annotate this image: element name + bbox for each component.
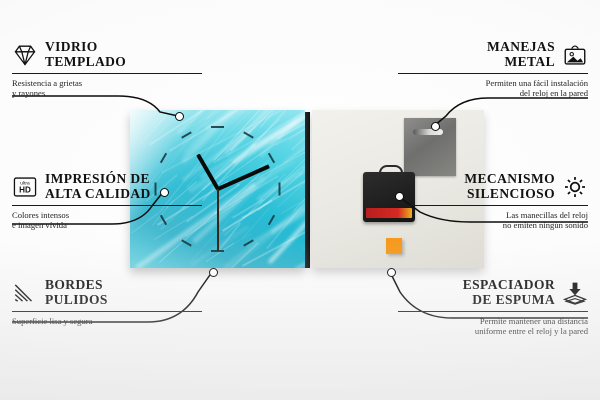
hour-tick: [268, 215, 275, 226]
feature-title: ESPACIADOR DE ESPUMA: [463, 278, 555, 307]
feature-desc: Permite mantener una distancia uniforme …: [398, 316, 588, 337]
feature-edges: BORDES PULIDOS Superficie lisa y segura: [12, 278, 202, 326]
feature-rule: [12, 205, 202, 206]
feature-title: VIDRIO TEMPLADO: [45, 40, 126, 69]
foam-spacer-arrow-icon: [562, 281, 588, 305]
diamond-icon: [12, 43, 38, 67]
glass-edge: [305, 112, 310, 268]
feature-rule: [12, 73, 202, 74]
feature-glass: VIDRIO TEMPLADO Resistencia a grietas y …: [12, 40, 202, 99]
feature-rule: [398, 311, 588, 312]
hour-tick: [279, 183, 281, 196]
feature-title: MECANISMO SILENCIOSO: [464, 172, 555, 201]
feature-desc: Resistencia a grietas y rayones: [12, 78, 202, 99]
feature-print: ultra HD IMPRESIÓN DE ALTA CALIDAD Color…: [12, 172, 202, 231]
feature-rule: [398, 73, 588, 74]
picture-frame-hook-icon: [562, 43, 588, 67]
svg-text:HD: HD: [19, 185, 31, 194]
feature-foam: ESPACIADOR DE ESPUMA Permite mantener un…: [398, 278, 588, 337]
feature-rule: [398, 205, 588, 206]
callout-dot-edges: [209, 268, 218, 277]
feature-title: BORDES PULIDOS: [45, 278, 108, 307]
hour-tick: [181, 239, 192, 246]
metal-hanger-plate: [404, 118, 456, 176]
foam-spacer-pad: [386, 238, 402, 254]
feature-desc: Colores intensos e imagen vívida: [12, 210, 202, 231]
feature-desc: Las manecillas del reloj no emiten ningú…: [398, 210, 588, 231]
callout-dot-glass: [175, 112, 184, 121]
feature-handles: MANEJAS METAL Permiten una fácil instala…: [398, 40, 588, 99]
hanger-keyhole-slot: [413, 129, 443, 135]
second-hand: [217, 189, 219, 251]
hour-tick: [211, 126, 224, 128]
feature-rule: [12, 311, 202, 312]
gear-icon: [562, 175, 588, 199]
polished-edges-icon: [12, 281, 38, 305]
ultra-hd-icon: ultra HD: [12, 175, 38, 199]
feature-title: IMPRESIÓN DE ALTA CALIDAD: [45, 172, 151, 201]
callout-dot-handles: [431, 122, 440, 131]
feature-desc: Superficie lisa y segura: [12, 316, 202, 326]
callout-dot-foam: [387, 268, 396, 277]
feature-title: MANEJAS METAL: [487, 40, 555, 69]
feature-desc: Permiten una fácil instalación del reloj…: [398, 78, 588, 99]
promo-infographic: VIDRIO TEMPLADO Resistencia a grietas y …: [0, 0, 600, 400]
feature-mechanism: MECANISMO SILENCIOSO Las manecillas del …: [398, 172, 588, 231]
